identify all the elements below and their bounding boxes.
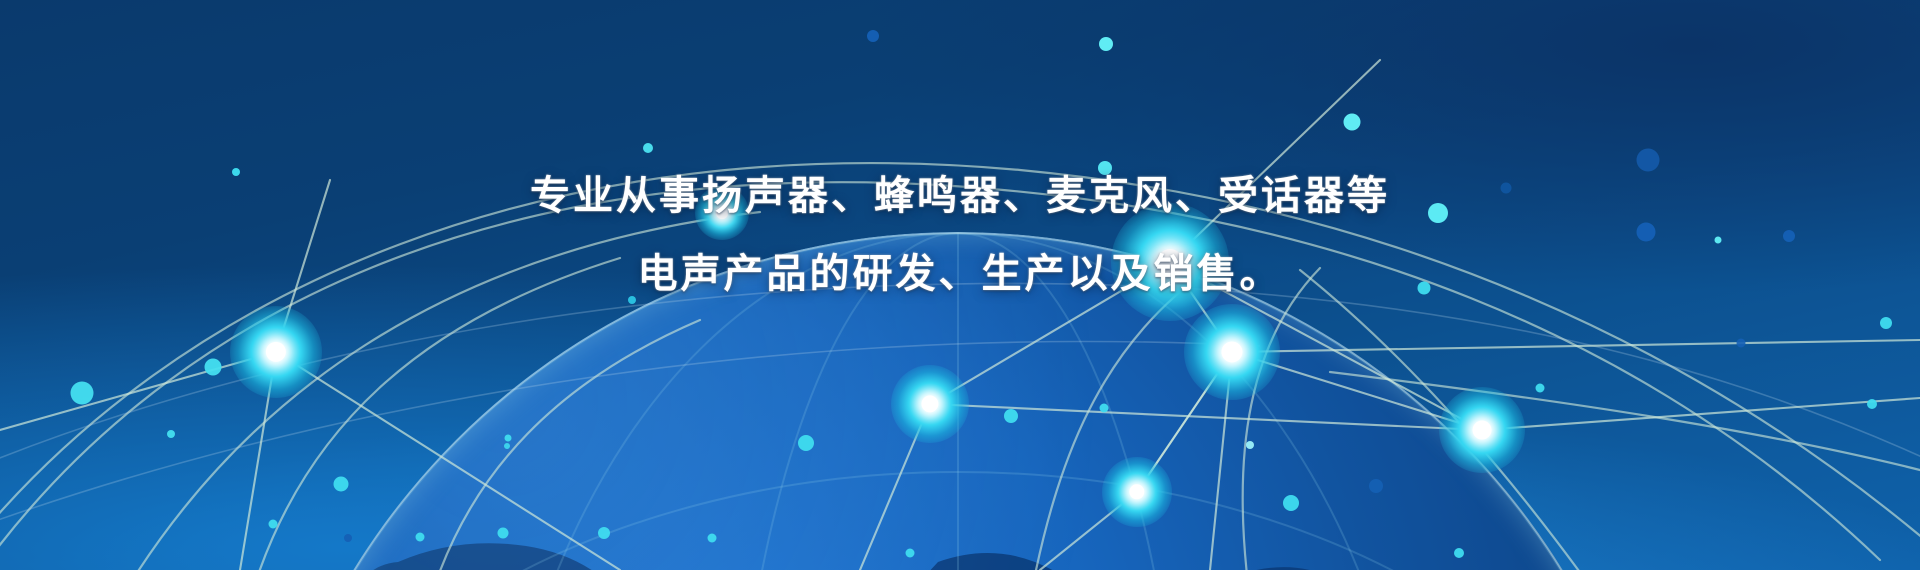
- headline-block: 专业从事扬声器、蜂鸣器、麦克风、受话器等 电声产品的研发、生产以及销售。: [0, 176, 1920, 294]
- hero-banner: 专业从事扬声器、蜂鸣器、麦克风、受话器等 电声产品的研发、生产以及销售。: [0, 0, 1920, 570]
- headline-line-2: 电声产品的研发、生产以及销售。: [0, 254, 1920, 294]
- headline-line-1: 专业从事扬声器、蜂鸣器、麦克风、受话器等: [0, 176, 1920, 216]
